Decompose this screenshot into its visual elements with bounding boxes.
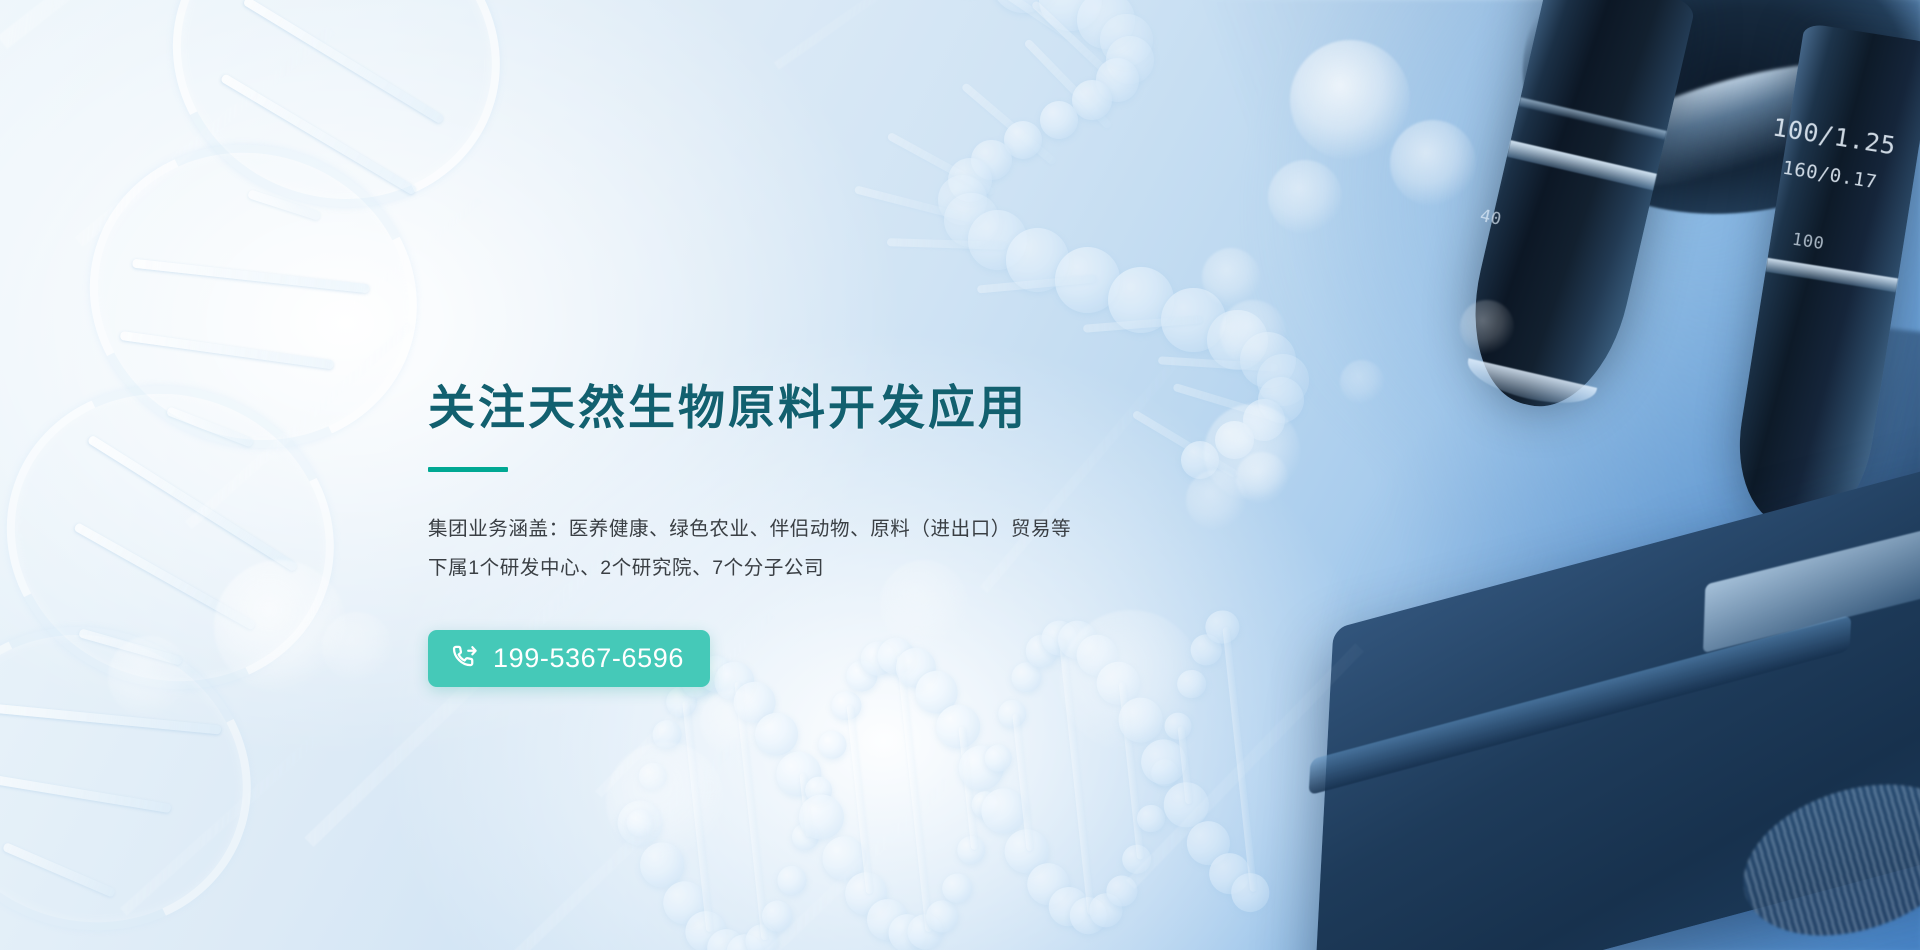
helix-bead — [774, 749, 823, 798]
phone-number-label: 199-5367-6596 — [493, 643, 684, 674]
helix-rung-stick — [959, 726, 979, 850]
helix-rung-stick — [682, 701, 713, 932]
helix-bead — [665, 685, 699, 719]
helix-bead — [984, 743, 1014, 773]
bokeh-light — [700, 690, 764, 754]
helix-bead — [1136, 803, 1166, 833]
helix-bead — [957, 743, 1006, 792]
helix-rung-stick — [896, 655, 932, 931]
helix-strand — [48, 101, 458, 492]
microscope-stage-edge — [1309, 615, 1852, 796]
helix-bead — [1229, 871, 1272, 914]
helix-bead — [638, 840, 687, 889]
helix-bead — [843, 870, 890, 917]
phone-cta-button[interactable]: 199-5367-6596 — [428, 630, 710, 687]
helix-bead — [1047, 885, 1090, 928]
helix-strand — [0, 583, 292, 950]
molecule-bead — [1040, 101, 1078, 139]
helix-bead — [725, 933, 764, 950]
bokeh-light — [606, 742, 724, 860]
helix-bead — [761, 900, 794, 933]
helix-rung-stick — [847, 705, 874, 894]
helix-rung — [120, 331, 334, 369]
hero-content: 关注天然生物原料开发应用 集团业务涵盖：医养健康、绿色农业、伴侣动物、原料（进出… — [428, 382, 1248, 687]
helix-bead — [705, 928, 747, 950]
microscope-stage-plate — [1312, 432, 1920, 950]
helix-bead — [941, 872, 974, 905]
helix-rung-stick — [640, 822, 647, 823]
helix-rung-stick — [1119, 682, 1144, 859]
helix-bead — [804, 775, 834, 805]
helix-rung — [2, 842, 116, 898]
helix-bead — [1121, 843, 1153, 875]
helix-bead — [817, 730, 848, 761]
helix-rung-stick — [1178, 726, 1193, 805]
helix-bead — [1025, 861, 1071, 907]
helix-rung — [132, 259, 370, 294]
microscope-objective-40x — [1454, 0, 1697, 421]
glass-shard — [75, 25, 336, 246]
helix-bead — [831, 689, 863, 721]
helix-bead — [625, 808, 655, 838]
helix-bead — [1163, 711, 1193, 741]
helix-bead — [791, 822, 821, 852]
helix-bead — [886, 912, 927, 950]
helix-rung — [243, 0, 445, 124]
hero-banner: 100/1.25 160/0.17 40 100 关注天然生物原料开发应用 集团… — [0, 0, 1920, 950]
helix-bead — [1207, 851, 1252, 896]
helix-bead — [997, 699, 1028, 730]
page-title: 关注天然生物原料开发应用 — [428, 382, 1248, 435]
helix-bead — [661, 879, 708, 926]
helix-rung — [166, 406, 254, 447]
objective-band-lower — [1507, 140, 1657, 190]
lens-label-tube: 160/0.17 — [1781, 157, 1879, 194]
helix-bead — [934, 703, 982, 751]
helix-bead — [1068, 895, 1108, 935]
glass-shard — [477, 737, 744, 950]
glass-shard — [728, 777, 951, 950]
helix-bead — [1116, 696, 1165, 745]
helix-bead — [956, 834, 987, 865]
helix-bead — [924, 899, 959, 934]
helix-rung — [87, 434, 298, 572]
glass-shard — [347, 196, 482, 311]
helix-rung — [73, 522, 256, 630]
microscope-stand-arm — [1820, 325, 1920, 636]
helix-bead — [638, 761, 668, 791]
helix-bead — [820, 834, 869, 883]
description-line-1: 集团业务涵盖：医养健康、绿色农业、伴侣动物、原料（进出口）贸易等 — [428, 510, 1248, 549]
helix-rung-stick — [799, 773, 813, 837]
lens-label-mag-100: 100 — [1791, 230, 1826, 255]
bokeh-light — [322, 612, 392, 682]
helix-bead — [1105, 874, 1139, 908]
helix-bead — [906, 913, 944, 950]
microscope-stage-clip — [1703, 517, 1920, 653]
helix-bead — [970, 790, 1000, 820]
helix-bead — [683, 909, 728, 950]
lens-label-mag-40: 40 — [1478, 206, 1503, 230]
microscope-objective-100x — [1727, 23, 1920, 537]
helix-bead — [753, 710, 801, 758]
objective-band-upper — [1519, 97, 1667, 140]
helix-bead — [776, 865, 807, 896]
helix-bead — [1162, 780, 1211, 829]
lens-label-aperture: 100/1.25 — [1770, 112, 1897, 160]
title-accent-rule — [428, 467, 508, 472]
helix-rung-stick — [1012, 713, 1033, 851]
helix-bead — [744, 923, 780, 950]
helix-bead — [651, 719, 683, 751]
helix-rung — [0, 773, 172, 813]
helix-rung — [220, 73, 417, 195]
bokeh-light — [214, 560, 346, 692]
glass-shard — [0, 0, 173, 49]
bokeh-light — [1460, 300, 1514, 354]
helix-bead — [1002, 827, 1050, 875]
glass-shard — [185, 321, 415, 529]
helix-bead — [615, 798, 664, 847]
microscope-focus-knob — [1724, 758, 1920, 950]
helix-bead — [1185, 819, 1233, 867]
helix-bead — [1139, 737, 1188, 786]
microscope-turret — [1483, 0, 1920, 267]
microscope-turret-ring — [1570, 37, 1913, 211]
helix-bead — [1087, 892, 1124, 929]
helix-strand — [0, 342, 375, 733]
bokeh-light — [108, 636, 190, 718]
objective-b-band — [1765, 258, 1898, 292]
helix-rung-stick — [734, 681, 768, 941]
helix-strand — [132, 0, 542, 251]
bokeh-light — [1390, 120, 1476, 206]
description-line-2: 下属1个研发中心、2个研究院、7个分子公司 — [428, 549, 1248, 588]
helix-rung — [0, 702, 222, 735]
helix-bead — [797, 792, 846, 841]
molecule-bead — [1072, 80, 1112, 120]
helix-bead — [979, 786, 1028, 835]
phone-forward-icon — [450, 643, 480, 673]
helix-bead — [1150, 758, 1180, 788]
helix-rung — [247, 189, 321, 221]
glass-shard — [120, 734, 320, 915]
helix-bead — [865, 898, 909, 942]
hero-description: 集团业务涵盖：医养健康、绿色农业、伴侣动物、原料（进出口）贸易等 下属1个研发中… — [428, 510, 1248, 588]
helix-rung — [78, 628, 182, 665]
